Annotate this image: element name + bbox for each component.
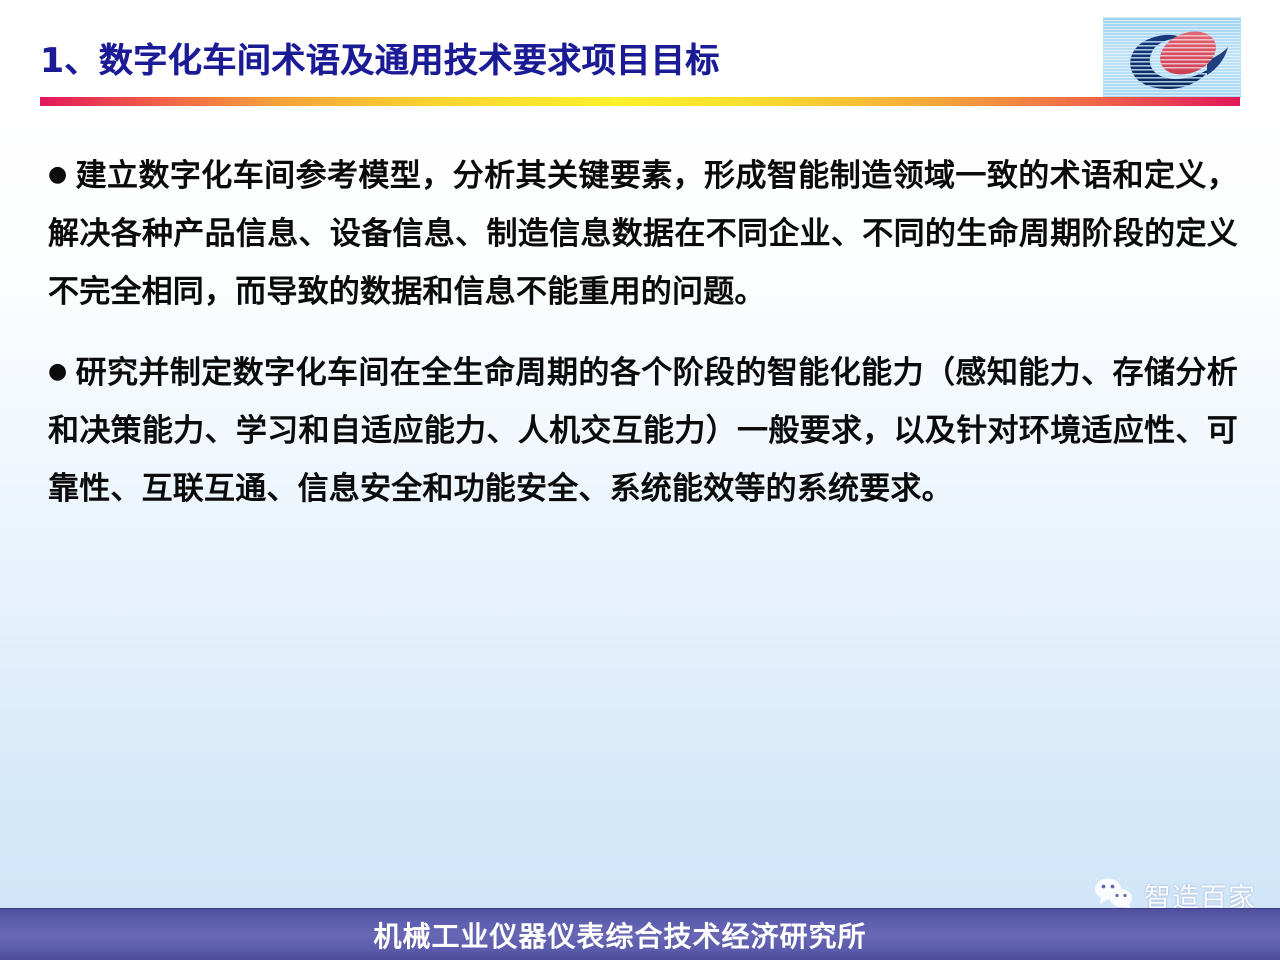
bullet-paragraph-2: ●研究并制定数字化车间在全生命周期的各个阶段的智能化能力（感知能力、存储分析和决… (48, 343, 1238, 518)
company-swoosh-logo-icon (1103, 17, 1241, 99)
bullet-glyph-1: ● (48, 162, 68, 187)
bullet-paragraph-1-text: 建立数字化车间参考模型，分析其关键要素，形成智能制造领域一致的术语和定义，解决各… (48, 158, 1238, 310)
slide-canvas: 1、数字化车间术语及通用技术要求项目目标 (0, 0, 1280, 960)
title-divider-rule (40, 97, 1240, 106)
bullet-paragraph-2-text: 研究并制定数字化车间在全生命周期的各个阶段的智能化能力（感知能力、存储分析和决策… (48, 355, 1238, 507)
slide-footer: 机械工业仪器仪表综合技术经济研究所 (0, 908, 1280, 960)
slide-header: 1、数字化车间术语及通用技术要求项目目标 (0, 0, 1280, 108)
bullet-glyph-2: ● (48, 359, 68, 384)
slide-body: ●建立数字化车间参考模型，分析其关键要素，形成智能制造领域一致的术语和定义，解决… (48, 146, 1238, 518)
logo-graphic (1103, 17, 1241, 99)
footer-organization-label: 机械工业仪器仪表综合技术经济研究所 (0, 909, 1280, 960)
page-title: 1、数字化车间术语及通用技术要求项目目标 (40, 33, 720, 82)
bullet-paragraph-1: ●建立数字化车间参考模型，分析其关键要素，形成智能制造领域一致的术语和定义，解决… (48, 146, 1238, 321)
